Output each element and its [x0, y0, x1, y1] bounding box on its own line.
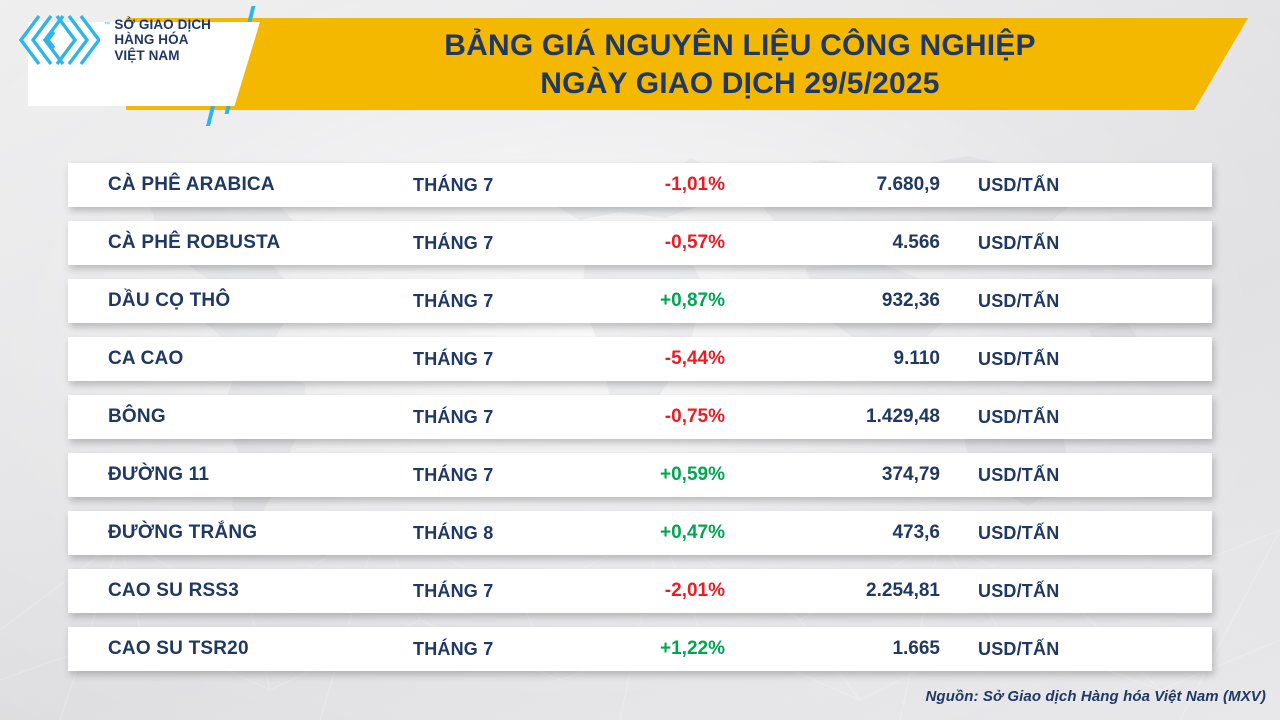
mxv-zigzag-logo-icon: [16, 12, 100, 68]
commodity-name: CAO SU TSR20: [108, 627, 249, 671]
contract-month: THÁNG 7: [413, 337, 493, 381]
table-row[interactable]: CA CAOTHÁNG 7-5,44%9.110USD/TẤN: [68, 337, 1212, 381]
contract-month: THÁNG 8: [413, 511, 493, 555]
commodity-name: CÀ PHÊ ROBUSTA: [108, 221, 280, 265]
commodity-name: ĐƯỜNG 11: [108, 453, 209, 497]
change-percent: -5,44%: [528, 337, 725, 381]
price-value: 473,6: [758, 511, 940, 555]
price-unit: USD/TẤN: [978, 279, 1059, 323]
brand-logo: ™ SỞ GIAO DỊCH HÀNG HÓA VIỆT NAM: [16, 12, 211, 68]
change-percent: +0,47%: [528, 511, 725, 555]
table-row[interactable]: DẦU CỌ THÔTHÁNG 7+0,87%932,36USD/TẤN: [68, 279, 1212, 323]
price-unit: USD/TẤN: [978, 163, 1059, 207]
price-unit: USD/TẤN: [978, 569, 1059, 613]
contract-month: THÁNG 7: [413, 627, 493, 671]
source-credit: Nguồn: Sở Giao dịch Hàng hóa Việt Nam (M…: [926, 688, 1267, 705]
change-percent: -2,01%: [528, 569, 725, 613]
change-percent: -0,57%: [528, 221, 725, 265]
trading-date-subtitle: NGÀY GIAO DỊCH 29/5/2025: [540, 65, 939, 103]
price-unit: USD/TẤN: [978, 337, 1059, 381]
change-percent: +0,87%: [528, 279, 725, 323]
table-row[interactable]: CÀ PHÊ ARABICATHÁNG 7-1,01%7.680,9USD/TẤ…: [68, 163, 1212, 207]
contract-month: THÁNG 7: [413, 395, 493, 439]
page-header: BẢNG GIÁ NGUYÊN LIỆU CÔNG NGHIỆP NGÀY GI…: [0, 0, 1280, 118]
price-value: 1.429,48: [758, 395, 940, 439]
table-row[interactable]: ĐƯỜNG 11THÁNG 7+0,59%374,79USD/TẤN: [68, 453, 1212, 497]
contract-month: THÁNG 7: [413, 453, 493, 497]
change-percent: +1,22%: [528, 627, 725, 671]
price-value: 374,79: [758, 453, 940, 497]
price-unit: USD/TẤN: [978, 627, 1059, 671]
contract-month: THÁNG 7: [413, 279, 493, 323]
table-row[interactable]: CAO SU RSS3THÁNG 7-2,01%2.254,81USD/TẤN: [68, 569, 1212, 613]
commodity-price-table: CÀ PHÊ ARABICATHÁNG 7-1,01%7.680,9USD/TẤ…: [68, 163, 1212, 685]
table-row[interactable]: CAO SU TSR20THÁNG 7+1,22%1.665USD/TẤN: [68, 627, 1212, 671]
change-percent: -0,75%: [528, 395, 725, 439]
title-block: BẢNG GIÁ NGUYÊN LIỆU CÔNG NGHIỆP NGÀY GI…: [300, 22, 1180, 108]
price-unit: USD/TẤN: [978, 395, 1059, 439]
commodity-name: CA CAO: [108, 337, 183, 381]
page-title: BẢNG GIÁ NGUYÊN LIỆU CÔNG NGHIỆP: [444, 27, 1035, 65]
contract-month: THÁNG 7: [413, 221, 493, 265]
price-value: 2.254,81: [758, 569, 940, 613]
price-unit: USD/TẤN: [978, 453, 1059, 497]
trademark-icon: ™: [104, 22, 110, 28]
price-value: 932,36: [758, 279, 940, 323]
price-unit: USD/TẤN: [978, 511, 1059, 555]
table-row[interactable]: ĐƯỜNG TRẮNGTHÁNG 8+0,47%473,6USD/TẤN: [68, 511, 1212, 555]
table-row[interactable]: BÔNGTHÁNG 7-0,75%1.429,48USD/TẤN: [68, 395, 1212, 439]
commodity-name: CAO SU RSS3: [108, 569, 239, 613]
change-percent: -1,01%: [528, 163, 725, 207]
brand-name-line-1: SỞ GIAO DỊCH: [114, 17, 211, 33]
commodity-name: DẦU CỌ THÔ: [108, 279, 230, 323]
price-value: 7.680,9: [758, 163, 940, 207]
contract-month: THÁNG 7: [413, 569, 493, 613]
change-percent: +0,59%: [528, 453, 725, 497]
price-unit: USD/TẤN: [978, 221, 1059, 265]
commodity-name: ĐƯỜNG TRẮNG: [108, 511, 257, 555]
brand-name-line-2: HÀNG HÓA: [114, 32, 211, 48]
brand-name: SỞ GIAO DỊCH HÀNG HÓA VIỆT NAM: [114, 17, 211, 64]
brand-name-line-3: VIỆT NAM: [114, 48, 211, 64]
price-value: 4.566: [758, 221, 940, 265]
commodity-name: BÔNG: [108, 395, 166, 439]
price-board-screen: BẢNG GIÁ NGUYÊN LIỆU CÔNG NGHIỆP NGÀY GI…: [0, 0, 1280, 720]
price-value: 1.665: [758, 627, 940, 671]
contract-month: THÁNG 7: [413, 163, 493, 207]
table-row[interactable]: CÀ PHÊ ROBUSTATHÁNG 7-0,57%4.566USD/TẤN: [68, 221, 1212, 265]
price-value: 9.110: [758, 337, 940, 381]
commodity-name: CÀ PHÊ ARABICA: [108, 163, 275, 207]
